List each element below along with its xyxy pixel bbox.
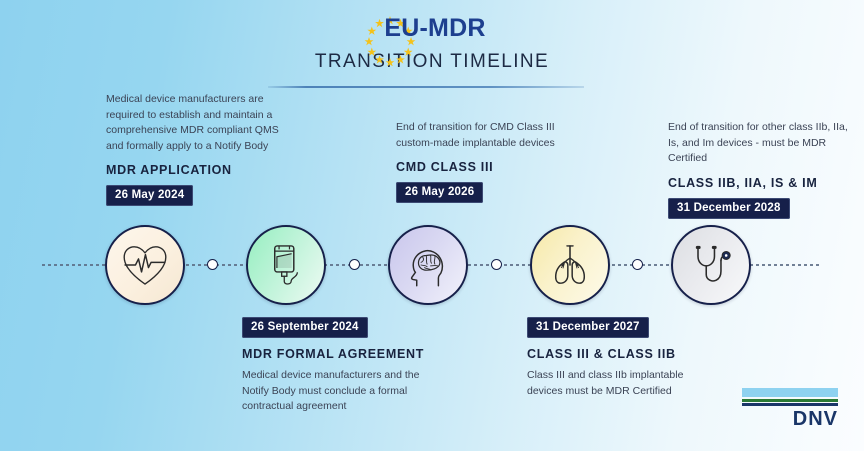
timeline-connector-dot [207, 259, 218, 270]
timeline-connector-dot [491, 259, 502, 270]
milestone-block-class-iib-iia-is-im: End of transition for other class IIb, I… [668, 120, 858, 219]
milestone-description: Class III and class IIb implantable devi… [527, 368, 717, 399]
milestone-node-cmd-class-iii[interactable] [388, 225, 468, 305]
milestone-date-badge: 26 September 2024 [242, 317, 368, 338]
milestone-description: End of transition for CMD Class III cust… [396, 120, 578, 151]
head-brain-icon [402, 239, 454, 291]
dnv-logo-wordmark: DNV [742, 408, 838, 430]
milestone-description: End of transition for other class IIb, I… [668, 120, 858, 167]
eu-mdr-logo: EU-MDR [378, 14, 485, 43]
milestone-heading: CLASS III & CLASS IIB [527, 347, 717, 361]
milestone-heading: MDR FORMAL AGREEMENT [242, 347, 432, 361]
milestone-date-badge: 31 December 2027 [527, 317, 649, 338]
timeline-connector-dot [632, 259, 643, 270]
milestone-date-badge: 26 May 2026 [396, 182, 483, 203]
lungs-icon [544, 239, 596, 291]
milestone-date-badge: 26 May 2024 [106, 185, 193, 206]
milestone-block-mdr-application: Medical device manufacturers are require… [106, 92, 288, 206]
stethoscope-icon [685, 239, 737, 291]
header: EU-MDR TRANSITION TIMELINE [0, 14, 864, 73]
milestone-node-mdr-application[interactable] [105, 225, 185, 305]
milestone-heading: CLASS IIB, IIA, IS & IM [668, 176, 858, 190]
milestone-block-cmd-class-iii: End of transition for CMD Class III cust… [396, 120, 578, 203]
dnv-logo-bar-dark-blue [742, 403, 838, 406]
milestone-node-mdr-formal-agreement[interactable] [246, 225, 326, 305]
timeline-connector-dot [349, 259, 360, 270]
title-divider [268, 86, 584, 88]
milestone-node-class-iib-iia-is-im[interactable] [671, 225, 751, 305]
heart-ecg-icon [119, 239, 171, 291]
milestone-description: Medical device manufacturers and the Not… [242, 368, 432, 415]
milestone-block-class-iii-and-class-iib: 31 December 2027 CLASS III & CLASS IIB C… [527, 317, 717, 399]
dnv-logo: DNV [742, 388, 838, 430]
infographic-canvas: EU-MDR TRANSITION TIMELINE [0, 0, 864, 451]
iv-drip-bag-icon [260, 239, 312, 291]
milestone-heading: CMD CLASS III [396, 160, 578, 174]
milestone-description: Medical device manufacturers are require… [106, 92, 288, 154]
milestone-block-mdr-formal-agreement: 26 September 2024 MDR FORMAL AGREEMENT M… [242, 317, 432, 415]
milestone-heading: MDR APPLICATION [106, 163, 288, 177]
milestone-node-class-iii-and-class-iib[interactable] [530, 225, 610, 305]
logo-text: EU-MDR [378, 14, 485, 42]
dnv-logo-bar-green [742, 399, 838, 402]
dnv-logo-bar-light-blue [742, 388, 838, 397]
milestone-date-badge: 31 December 2028 [668, 198, 790, 219]
page-title: TRANSITION TIMELINE [0, 51, 864, 73]
